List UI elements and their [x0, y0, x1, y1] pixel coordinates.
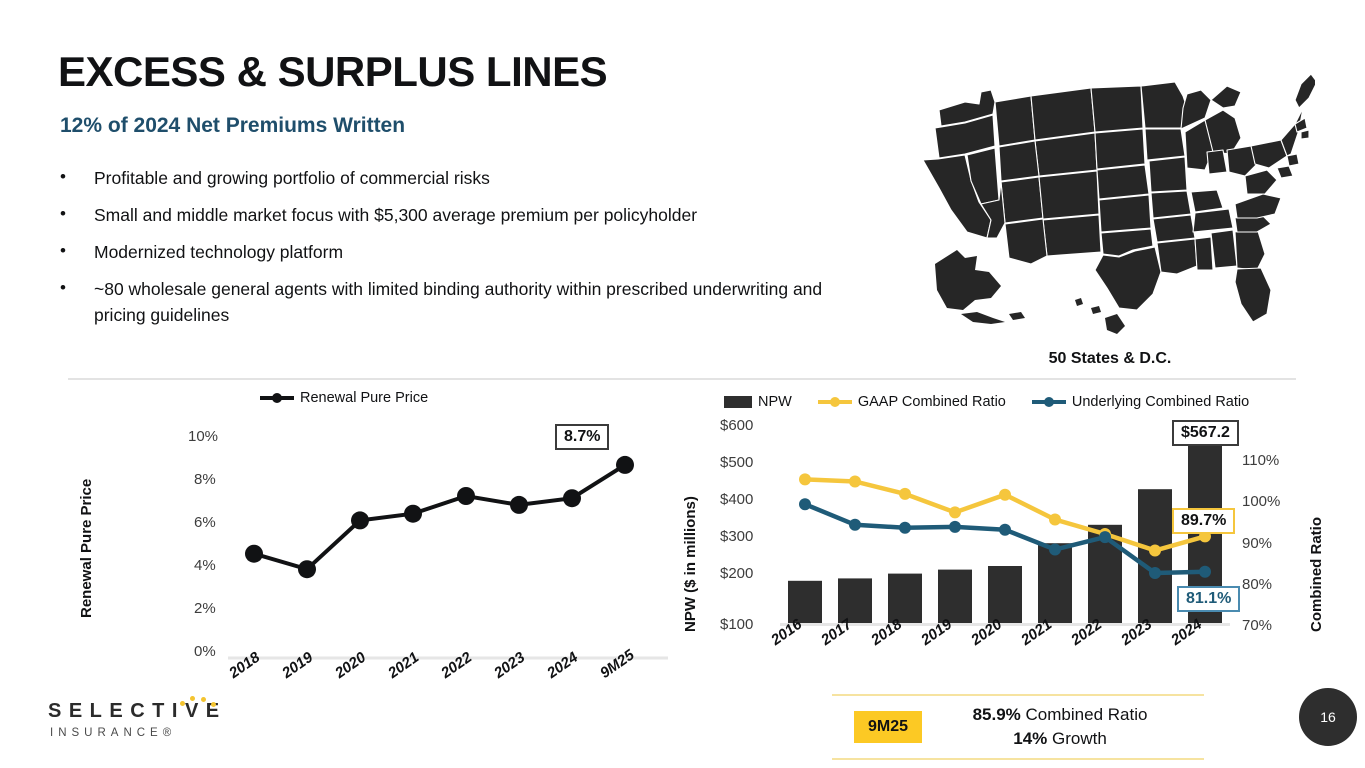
line-marker-icon — [260, 396, 294, 400]
y2-axis-title: Combined Ratio — [1308, 517, 1325, 632]
data-callout-gaap-2024: 89.7% — [1172, 508, 1235, 534]
y-tick: $400 — [720, 491, 753, 508]
list-item: • Modernized technology platform — [60, 239, 850, 265]
list-item-label: ~80 wholesale general agents with limite… — [76, 276, 850, 328]
slide: EXCESS & SURPLUS LINES 12% of 2024 Net P… — [0, 0, 1365, 768]
y2-tick: 100% — [1242, 493, 1280, 510]
line-marker-icon — [818, 400, 852, 404]
y-tick: 2% — [194, 600, 216, 617]
kpi-growth-value: 14% — [1013, 729, 1047, 748]
data-callout-npw-2024: $567.2 — [1172, 420, 1239, 446]
list-item: • Small and middle market focus with $5,… — [60, 202, 850, 228]
company-logo: SELECTIVE INSURANCE® — [48, 700, 268, 739]
y-tick: 6% — [194, 514, 216, 531]
y2-tick: 80% — [1242, 576, 1272, 593]
y-tick: $300 — [720, 528, 753, 545]
legend-item-renewal-pure-price: Renewal Pure Price — [260, 390, 428, 406]
us-map — [905, 42, 1315, 342]
map-caption: 50 States & D.C. — [905, 350, 1315, 368]
data-callout-underlying-2024: 81.1% — [1177, 586, 1240, 612]
y-axis-title: Renewal Pure Price — [78, 479, 95, 618]
list-item-label: Small and middle market focus with $5,30… — [76, 202, 697, 228]
page-title: EXCESS & SURPLUS LINES — [58, 48, 607, 96]
legend-label: GAAP Combined Ratio — [858, 394, 1006, 410]
bullet-list: • Profitable and growing portfolio of co… — [60, 165, 850, 339]
legend-label: Underlying Combined Ratio — [1072, 394, 1249, 410]
chart-legend: NPW GAAP Combined Ratio Underlying Combi… — [724, 394, 1249, 410]
data-callout-renewal-9m25: 8.7% — [555, 424, 609, 450]
line-marker-icon — [1032, 400, 1066, 404]
y2-tick: 110% — [1242, 452, 1279, 469]
logo-subtitle: INSURANCE® — [50, 727, 268, 739]
bar-swatch-icon — [724, 396, 752, 408]
kpi-period-tag: 9M25 — [854, 711, 922, 743]
page-subtitle: 12% of 2024 Net Premiums Written — [60, 114, 405, 138]
legend-item-underlying-combined-ratio: Underlying Combined Ratio — [1032, 394, 1249, 410]
y-tick: 10% — [188, 428, 218, 445]
logo-dots-icon — [176, 696, 226, 708]
list-item: • ~80 wholesale general agents with limi… — [60, 276, 850, 328]
legend-item-npw: NPW — [724, 394, 792, 410]
y2-tick: 70% — [1242, 617, 1272, 634]
list-item-label: Profitable and growing portfolio of comm… — [76, 165, 490, 191]
y-tick: 4% — [194, 557, 216, 574]
logo-name: SELECTIVE — [48, 700, 268, 723]
legend-label: Renewal Pure Price — [300, 390, 428, 406]
bullet-dot-icon: • — [60, 202, 76, 226]
kpi-line-growth: 14% Growth — [938, 727, 1182, 751]
chart-npw-combined-ratio: NPW GAAP Combined Ratio Underlying Combi… — [672, 386, 1317, 676]
legend-item-gaap-combined-ratio: GAAP Combined Ratio — [818, 394, 1006, 410]
page-number: 16 — [1299, 688, 1357, 746]
y-axis-title: NPW ($ in millions) — [682, 496, 699, 632]
kpi-combined-ratio-label: Combined Ratio — [1026, 705, 1148, 724]
kpi-growth-label: Growth — [1052, 729, 1107, 748]
kpi-combined-ratio-value: 85.9% — [973, 705, 1021, 724]
bullet-dot-icon: • — [60, 239, 76, 263]
kpi-text: 85.9% Combined Ratio 14% Growth — [938, 703, 1182, 751]
y2-tick: 90% — [1242, 535, 1272, 552]
kpi-line-combined-ratio: 85.9% Combined Ratio — [938, 703, 1182, 727]
chart-plot-area — [780, 424, 1230, 629]
chart-legend: Renewal Pure Price — [260, 390, 428, 406]
chart-plot-area — [228, 432, 668, 660]
chart-renewal-pure-price: Renewal Pure Price Renewal Pure Price 10… — [60, 386, 680, 676]
bullet-dot-icon: • — [60, 165, 76, 189]
bullet-dot-icon: • — [60, 276, 76, 300]
legend-label: NPW — [758, 394, 792, 410]
y-tick: $100 — [720, 616, 753, 633]
y-tick: $600 — [720, 417, 753, 434]
list-item: • Profitable and growing portfolio of co… — [60, 165, 850, 191]
y-tick: $200 — [720, 565, 753, 582]
list-item-label: Modernized technology platform — [76, 239, 343, 265]
y-tick: 0% — [194, 643, 216, 660]
y-tick: 8% — [194, 471, 216, 488]
y-tick: $500 — [720, 454, 753, 471]
section-divider — [68, 378, 1296, 380]
kpi-callout: 9M25 85.9% Combined Ratio 14% Growth — [832, 694, 1204, 760]
